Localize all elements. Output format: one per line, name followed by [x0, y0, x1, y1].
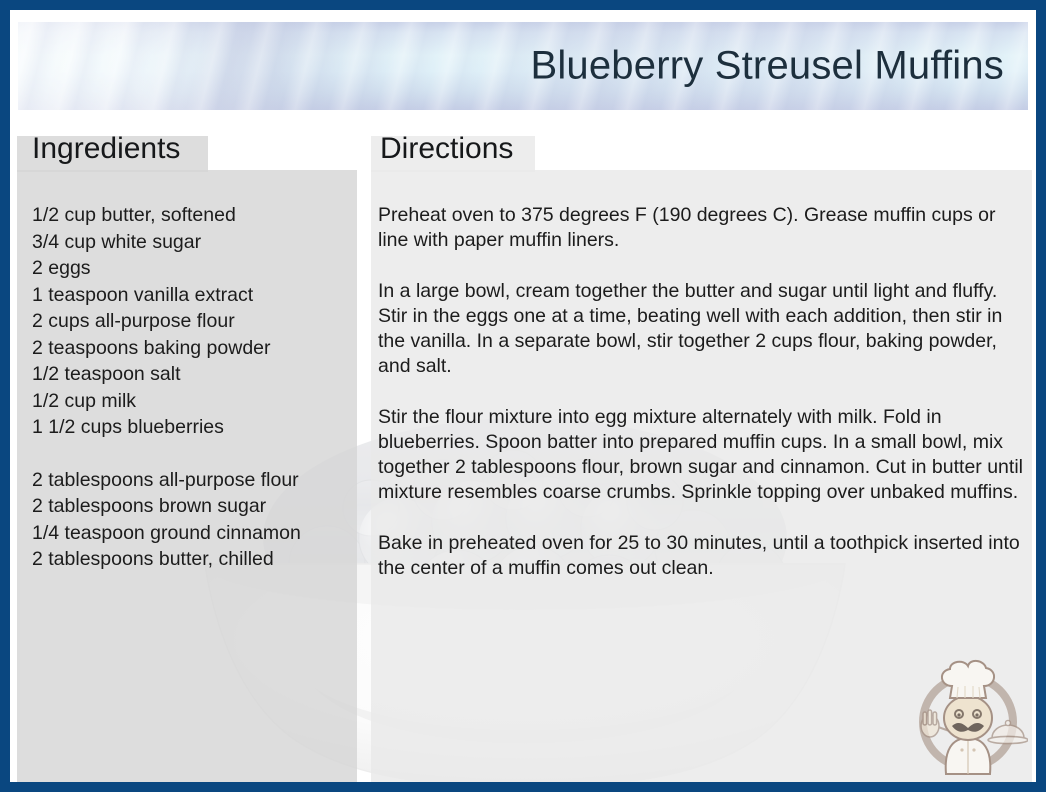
direction-paragraph: Bake in preheated oven for 25 to 30 minu…	[378, 531, 1026, 581]
page-title: Blueberry Streusel Muffins	[530, 44, 1004, 89]
list-item: 1/2 cup milk	[32, 388, 352, 415]
chef-mascot-logo	[908, 658, 1028, 778]
card-inner-frame: Blueberry Streusel Muffins	[10, 10, 1036, 782]
ingredients-list: 1/2 cup butter, softened 3/4 cup white s…	[32, 202, 352, 573]
recipe-card: Blueberry Streusel Muffins	[0, 0, 1046, 792]
list-item: 2 eggs	[32, 255, 352, 282]
list-item: 1/4 teaspoon ground cinnamon	[32, 520, 352, 547]
list-item: 2 tablespoons butter, chilled	[32, 546, 352, 573]
title-banner: Blueberry Streusel Muffins	[18, 22, 1028, 110]
direction-paragraph: Stir the flour mixture into egg mixture …	[378, 405, 1026, 505]
list-item: 1 teaspoon vanilla extract	[32, 282, 352, 309]
list-item: 2 tablespoons brown sugar	[32, 493, 352, 520]
list-item: 2 teaspoons baking powder	[32, 335, 352, 362]
list-item: 1 1/2 cups blueberries	[32, 414, 352, 441]
direction-paragraph: Preheat oven to 375 degrees F (190 degre…	[378, 203, 1026, 253]
list-item: 1/2 cup butter, softened	[32, 202, 352, 229]
list-spacer	[32, 441, 352, 467]
list-item: 1/2 teaspoon salt	[32, 361, 352, 388]
list-item: 2 tablespoons all-purpose flour	[32, 467, 352, 494]
directions-heading: Directions	[380, 132, 513, 166]
list-item: 2 cups all-purpose flour	[32, 308, 352, 335]
directions-body: Preheat oven to 375 degrees F (190 degre…	[378, 203, 1026, 581]
list-item: 3/4 cup white sugar	[32, 229, 352, 256]
ingredients-heading: Ingredients	[32, 132, 180, 166]
direction-paragraph: In a large bowl, cream together the butt…	[378, 279, 1026, 379]
